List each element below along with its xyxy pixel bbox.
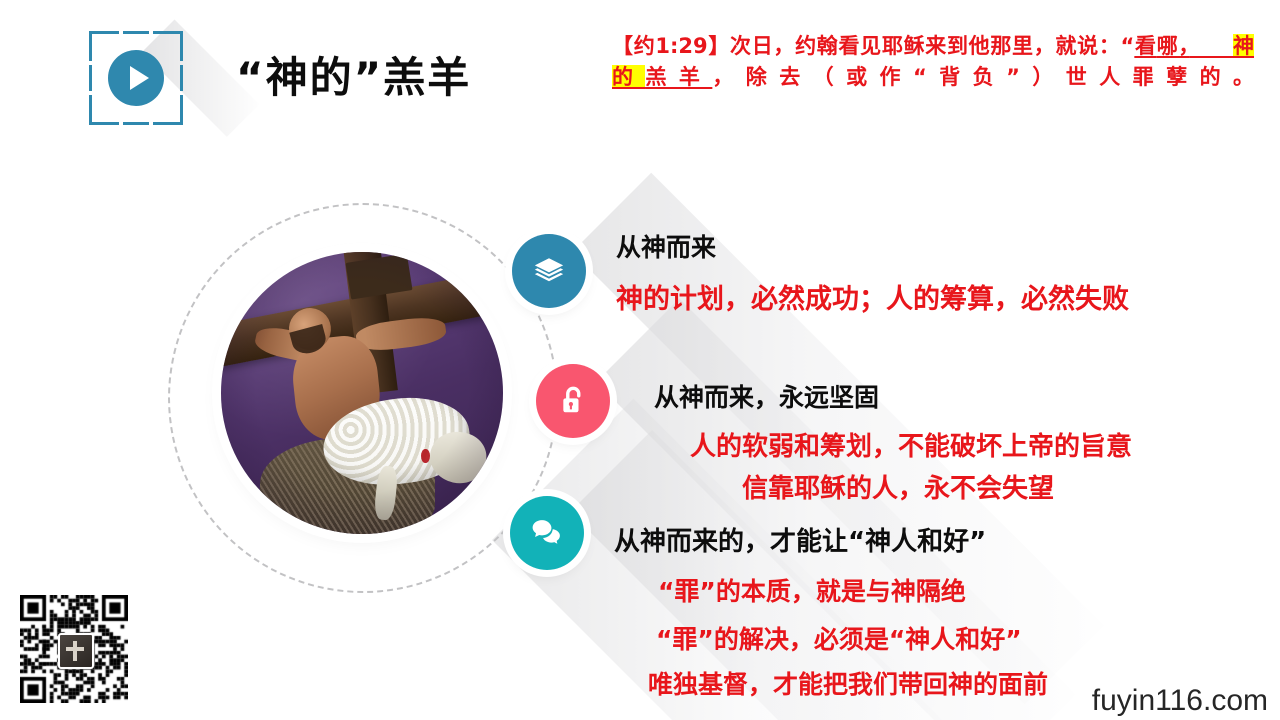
qr-code[interactable] xyxy=(20,595,128,703)
play-icon[interactable] xyxy=(108,50,164,106)
block-3-line-1: “罪”的本质，就是与神隔绝 xyxy=(658,572,966,608)
chat-bubbles-icon[interactable] xyxy=(510,496,584,570)
cross-horizontal xyxy=(66,647,84,651)
scripture-line2-head: 哪， xyxy=(1157,34,1190,58)
frame-corner-top-right xyxy=(153,31,183,61)
block-1-heading: 从神而来 xyxy=(616,228,716,264)
scripture-underlined-tail: 看 xyxy=(1134,34,1156,58)
photo-vignette xyxy=(221,252,503,534)
block-3-line-3: 唯独基督，才能把我们带回神的面前 xyxy=(648,665,1048,701)
icon-2-long-shadow xyxy=(596,299,1075,720)
photo-inner xyxy=(221,252,503,534)
frame-edge-right xyxy=(180,65,183,91)
block-3-heading: 从神而来的，才能让“神人和好” xyxy=(614,521,986,558)
block-2-line-2: 信靠耶稣的人，永不会失望 xyxy=(742,468,1054,505)
scripture-verse: 【约1:29】次日，约翰看见耶稣来到他那里，就说：“看哪， 神的羔羊，除去（或作… xyxy=(612,31,1254,93)
block-2-heading: 从神而来，永远坚固 xyxy=(654,378,879,414)
cross-vertical xyxy=(73,641,77,661)
scripture-reference: 【约1:29】 xyxy=(612,34,730,58)
frame-corner-bottom-right xyxy=(153,95,183,125)
unlock-icon[interactable] xyxy=(536,364,610,438)
frame-edge-bottom xyxy=(123,122,149,125)
block-2-line-1: 人的软弱和筹划，不能破坏上帝的旨意 xyxy=(690,426,1132,463)
cross-icon xyxy=(58,633,94,669)
block-1-line-1: 神的计划，必然成功；人的筹算，必然失败 xyxy=(616,277,1129,316)
scripture-rest: ，除去（或作“背负”）世人罪孽的。 xyxy=(712,65,1254,89)
frame-corner-top-left xyxy=(89,31,119,61)
scripture-spacer xyxy=(1190,34,1233,58)
logo-frame xyxy=(89,31,183,125)
block-3-line-2: “罪”的解决，必须是“神人和好” xyxy=(656,620,1022,656)
scripture-underlined-after: 羔羊 xyxy=(645,65,712,89)
scripture-part1: 次日，约翰看见耶稣来到他那里，就说：“ xyxy=(730,34,1134,58)
frame-edge-left xyxy=(89,65,92,91)
crucifixion-lamb-photo xyxy=(221,252,503,534)
play-triangle xyxy=(130,66,149,90)
frame-edge-top xyxy=(123,31,149,34)
page-title: “神的”羔羊 xyxy=(236,44,471,105)
slide-canvas: “神的”羔羊 【约1:29】次日，约翰看见耶稣来到他那里，就说：“看哪， 神的羔… xyxy=(0,0,1280,720)
watermark: fuyin116.com xyxy=(1092,684,1268,718)
frame-corner-bottom-left xyxy=(89,95,119,125)
layers-icon[interactable] xyxy=(512,234,586,308)
